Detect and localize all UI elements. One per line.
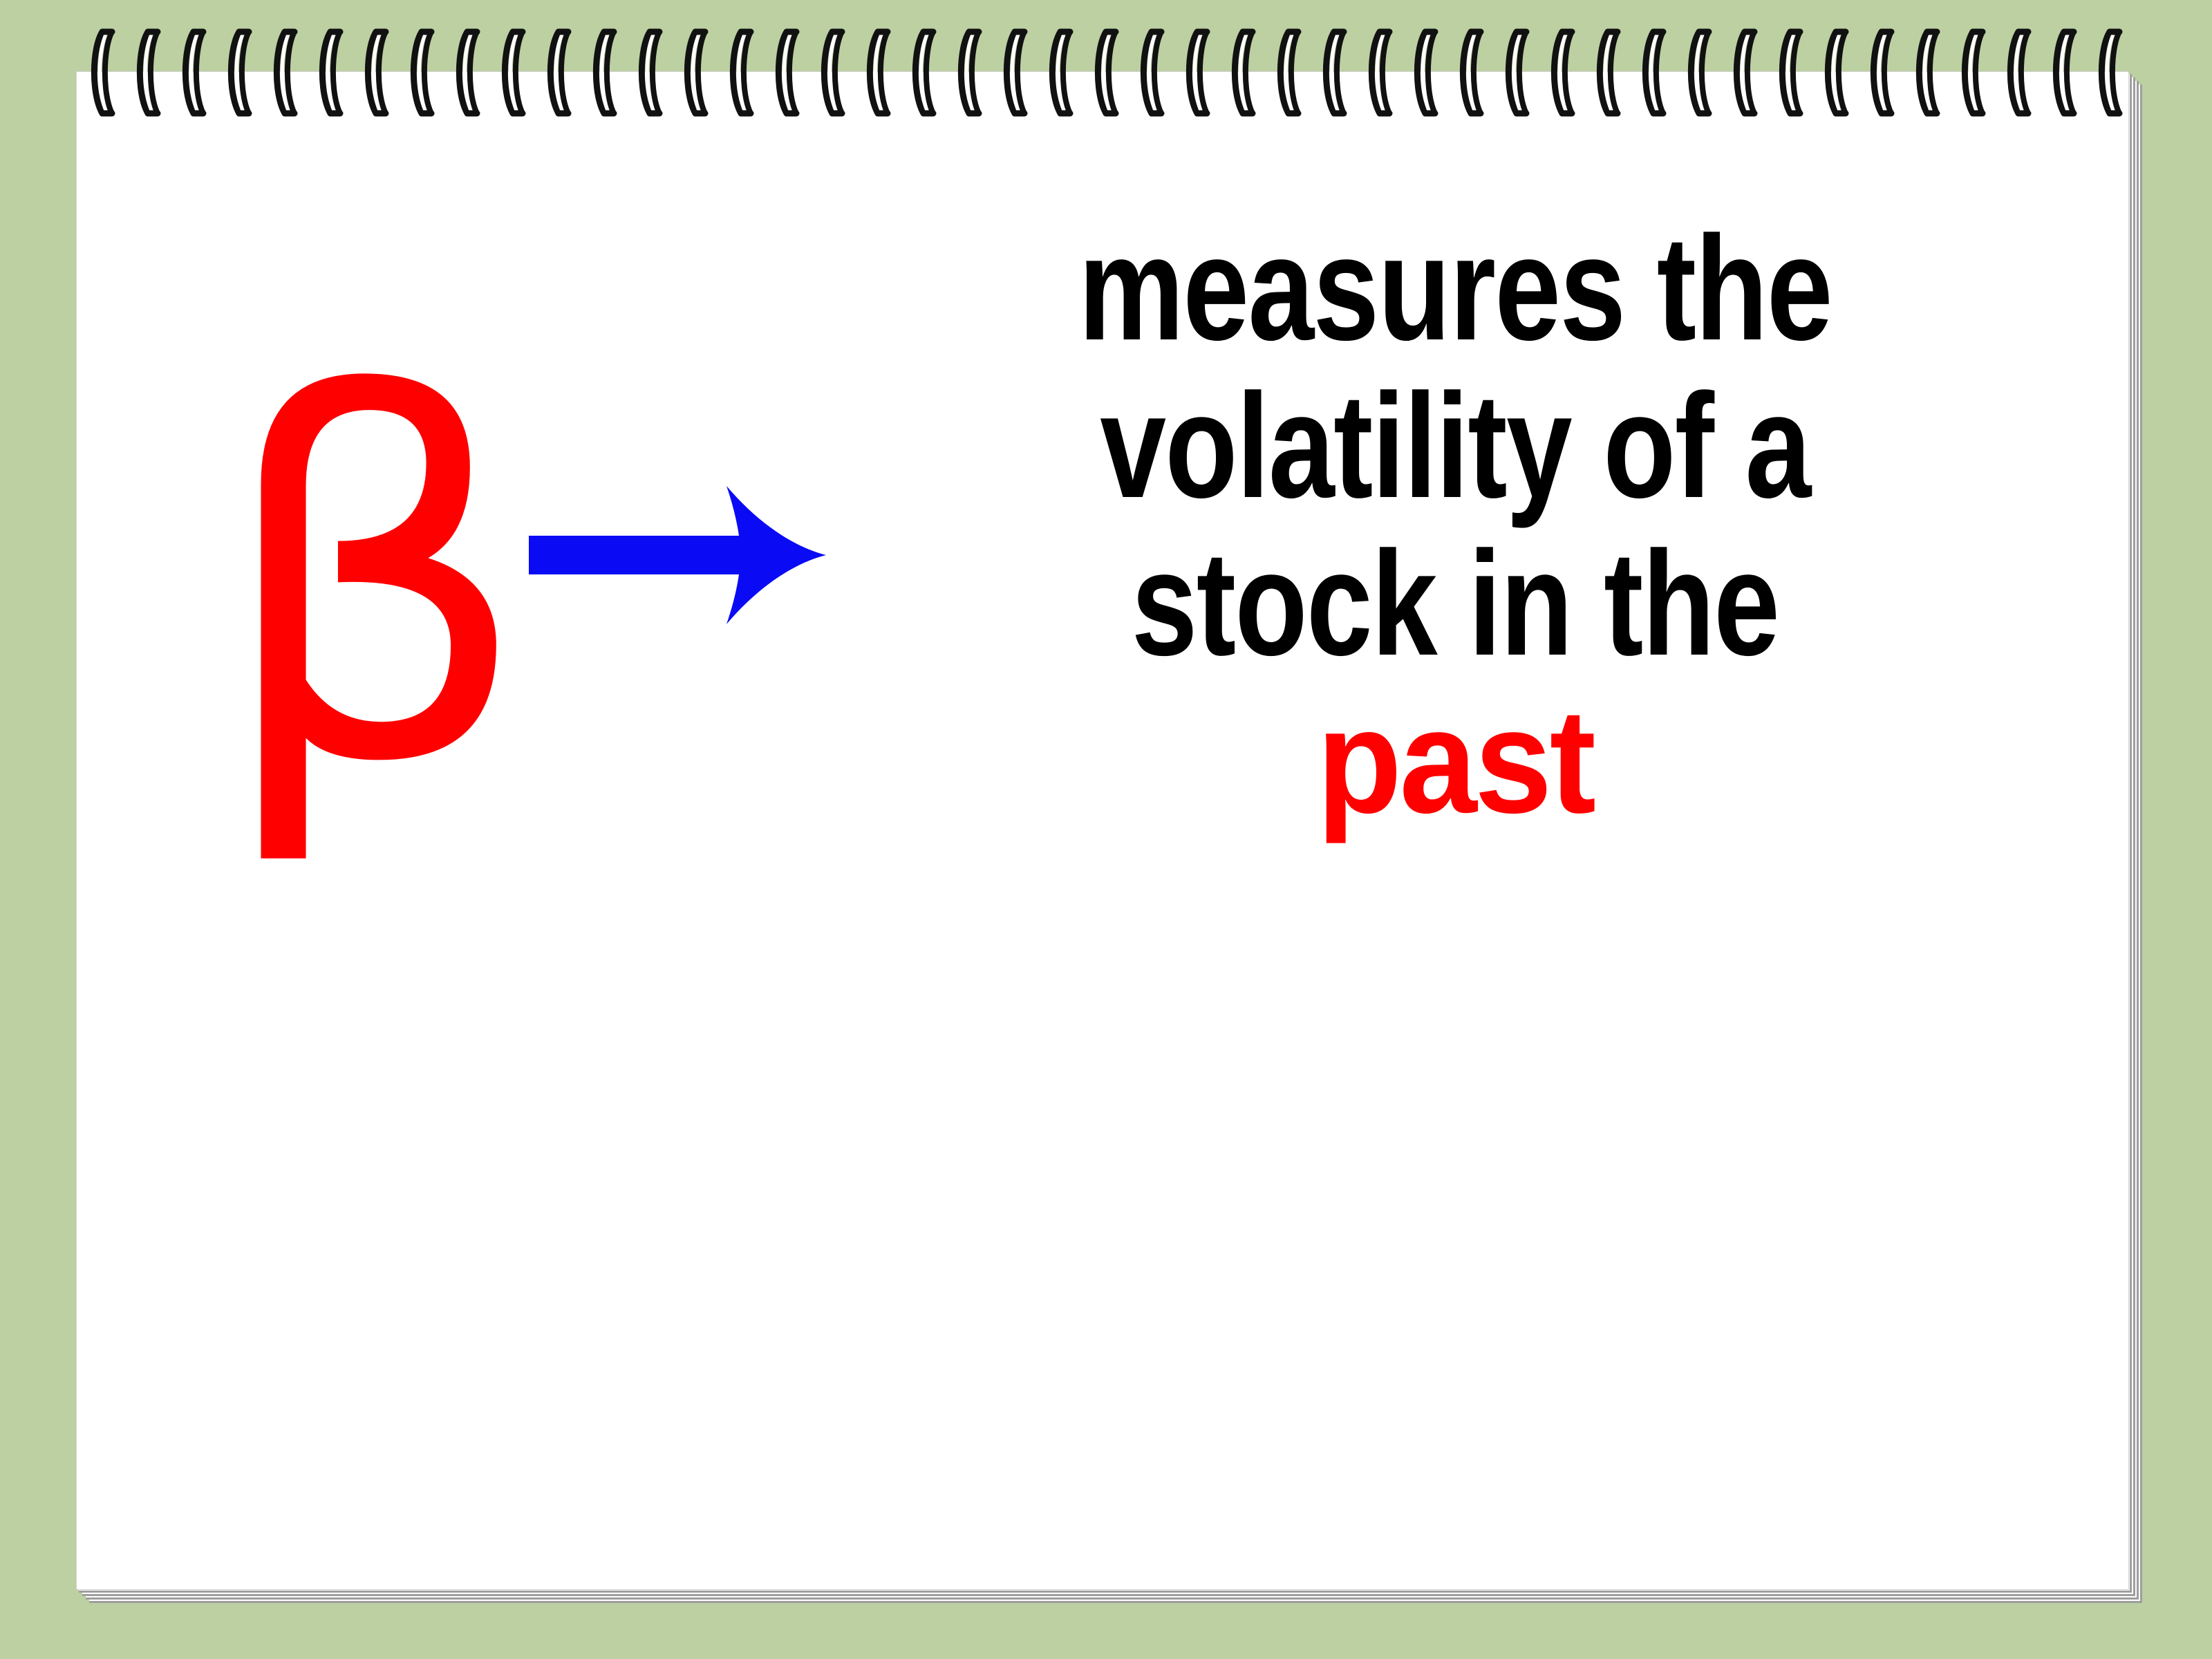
greek-beta-symbol: β [214, 320, 463, 845]
text-line-3: stock in the [955, 525, 1956, 682]
text-line-2: volatility of a [955, 367, 1956, 525]
slide-content: β measures the volatility of a stock in … [76, 71, 2129, 1590]
right-arrow-icon [529, 486, 826, 624]
text-line-4-highlight: past [867, 682, 2043, 840]
statement-text-block: measures the volatility of a stock in th… [829, 209, 2081, 840]
text-line-1: measures the [955, 209, 1956, 367]
